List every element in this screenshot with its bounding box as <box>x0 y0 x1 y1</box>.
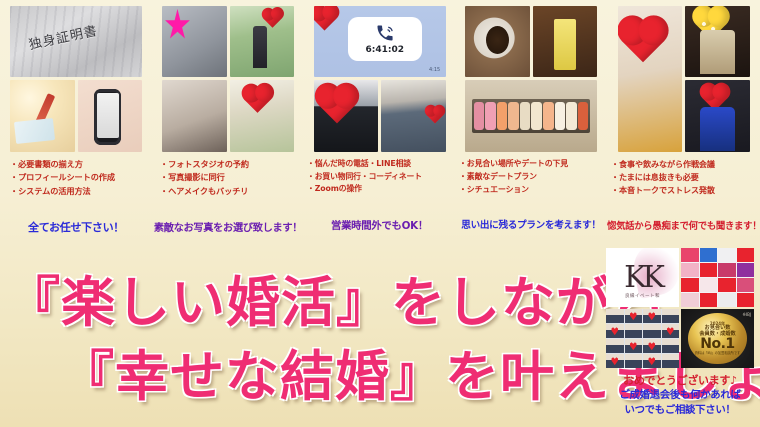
medal-corner-mark: ※IBJ <box>743 312 751 317</box>
service-summary: 営業時間外でもOK！ <box>304 217 455 232</box>
outdoor-shoot-photo <box>230 6 295 77</box>
service-columns: 独身証明書 ・必要書類の揃え方 ・プロフィールシートの作成 ・システムの活用方法… <box>0 0 760 248</box>
promo-message-line-2: ご成婚退会後も何かあれば <box>604 388 756 402</box>
photo-block <box>618 6 750 152</box>
promo-card: KK 良縁イベート和 ※IBJ 2024年 お見合い数 <box>604 248 756 427</box>
coffee-cup-photo <box>465 6 530 77</box>
bullet-item: ・必要書類の揃え方 <box>10 158 148 171</box>
service-bullets: ・フォトスタジオの予約 ・写真撮影に同行 ・ヘアメイクもバッチリ <box>152 158 304 198</box>
promo-tile-grid: KK 良縁イベート和 ※IBJ 2024年 お見合い数 <box>606 248 754 368</box>
service-column-date-plan: ・お見合い場所やデートの下見 ・素敵なデートプラン ・シチュエーション 思い出に… <box>455 0 607 248</box>
marriage-agency-poster: 独身証明書 ・必要書類の揃え方 ・プロフィールシートの作成 ・システムの活用方法… <box>0 0 760 427</box>
brand-logo-caption: 良縁イベート和 <box>625 293 660 299</box>
brand-logo-tile: KK 良縁イベート和 <box>606 248 679 307</box>
heart-mask-icon <box>314 7 337 31</box>
bullet-item: ・本音トークでストレス発散 <box>611 184 756 197</box>
service-summary: 全てお任せ下さい！ <box>0 219 152 235</box>
bullet-item: ・フォトスタジオの予約 <box>160 158 300 171</box>
members-collage-tile <box>606 309 679 368</box>
brand-logo-text: KK <box>624 260 661 295</box>
no1-medal-tile: ※IBJ 2024年 お見合い数 会員数・成婚数 No.1 資料は「IBJ」の加… <box>681 309 754 368</box>
bullet-item: ・たまには息抜きも必要 <box>611 171 756 184</box>
sushi-row <box>472 99 591 134</box>
bullet-item: ・悩んだ時の電話・LINE相談 <box>307 158 451 171</box>
photo-block: 6:41:02 4:15 <box>314 6 446 152</box>
bullet-item: ・食事や飲みながら作戦会議 <box>611 158 756 171</box>
bullet-item: ・ヘアメイクもバッチリ <box>160 185 300 198</box>
photo-block <box>162 6 294 152</box>
star-sticker-icon <box>165 9 191 42</box>
wedding-hearts-collage-tile <box>681 248 754 307</box>
medal-note: 資料は「IBJ」の加盟相談所です <box>695 352 741 355</box>
bullet-item: ・お見合い場所やデートの下見 <box>459 158 603 171</box>
sushi-platter-photo <box>465 80 597 152</box>
portrait-photo <box>230 80 295 152</box>
service-bullets: ・食事や飲みながら作戦会議 ・たまには息抜きも必要 ・本音トークでストレス発散 <box>607 158 760 197</box>
guitar-woman-photo <box>618 6 683 152</box>
headline: 『楽しい婚活』をしながら 『幸せな結婚』を叶えましょう！ <box>0 250 600 427</box>
service-bullets: ・お見合い場所やデートの下見 ・素敵なデートプラン ・シチュエーション <box>455 158 607 196</box>
heart-mask-icon <box>263 9 281 27</box>
blue-outfit-person-photo <box>685 80 750 152</box>
photo-block: 独身証明書 <box>10 6 142 152</box>
heart-mask-icon <box>318 86 355 123</box>
service-column-talk-session: ・食事や飲みながら作戦会議 ・たまには息抜きも必要 ・本音トークでストレス発散 … <box>607 0 760 248</box>
call-duration: 6:41:02 <box>366 45 405 55</box>
bullet-item: ・お買い物同行・コーディネート <box>307 171 451 184</box>
heart-mask-icon <box>696 9 727 40</box>
medal-rank: No.1 <box>700 337 734 352</box>
service-summary: 思い出に残るプランを考えます！ <box>455 217 607 231</box>
smartphone-photo <box>78 80 143 152</box>
certificate-caption: 独身証明書 <box>27 20 99 53</box>
bullet-item: ・写真撮影に同行 <box>160 171 300 184</box>
service-bullets: ・必要書類の揃え方 ・プロフィールシートの作成 ・システムの活用方法 <box>0 158 152 198</box>
promo-message: おめでとうございます♪ ご成婚退会後も何かあれば いつでもご相談下さい！ <box>604 373 756 417</box>
bullet-item: ・Zoomの操作 <box>307 183 451 196</box>
service-column-photo-studio: ・フォトスタジオの予約 ・写真撮影に同行 ・ヘアメイクもバッチリ 素敵なお写真を… <box>152 0 304 248</box>
suit-man-photo <box>314 80 379 152</box>
certificate-photo: 独身証明書 <box>10 6 142 77</box>
lemon-drink-photo <box>533 6 598 77</box>
service-summary: 惚気話から愚痴まで何でも聞きます！ <box>607 218 760 232</box>
call-bubble: 6:41:02 <box>348 17 422 61</box>
writing-hand-photo <box>10 80 75 152</box>
service-column-documents: 独身証明書 ・必要書類の揃え方 ・プロフィールシートの作成 ・システムの活用方法… <box>0 0 152 248</box>
message-timestamp: 4:15 <box>429 67 440 73</box>
bullet-item: ・シチュエーション <box>459 184 603 197</box>
heart-mask-icon <box>426 106 443 123</box>
medal-graphic: 2024年 お見合い数 会員数・成婚数 No.1 資料は「IBJ」の加盟相談所で… <box>688 313 746 364</box>
bullet-item: ・素敵なデートプラン <box>459 171 603 184</box>
bullet-item: ・システムの活用方法 <box>10 185 148 198</box>
headline-line-1: 『楽しい婚活』をしながら <box>6 258 666 337</box>
promo-message-line-3: いつでもご相談下さい！ <box>604 403 756 417</box>
promo-message-line-1: おめでとうございます♪ <box>604 373 756 388</box>
service-bullets: ・悩んだ時の電話・LINE相談 ・お買い物同行・コーディネート ・Zoomの操作 <box>304 158 455 196</box>
bullet-item: ・プロフィールシートの作成 <box>10 171 148 184</box>
hair-makeup-photo <box>162 80 227 152</box>
heart-mask-icon <box>244 86 271 113</box>
photo-block <box>465 6 597 152</box>
service-summary: 素敵なお写真をお選び致します！ <box>152 219 304 234</box>
heart-mask-icon <box>622 20 664 62</box>
bar-person-photo <box>685 6 750 77</box>
phone-call-icon <box>375 23 395 43</box>
studio-shoot-photo <box>162 6 227 77</box>
service-column-consultation: 6:41:02 4:15 ・悩んだ時の電話・LINE相談 ・お買い物同行・コーデ… <box>304 0 455 248</box>
man-back-photo <box>381 80 446 152</box>
line-call-screenshot: 6:41:02 4:15 <box>314 6 446 77</box>
heart-mask-icon <box>702 85 727 110</box>
